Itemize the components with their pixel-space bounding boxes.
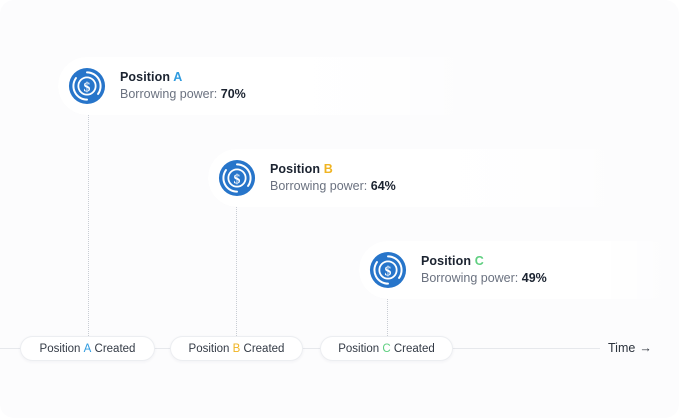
- card-a-title: Position A: [120, 70, 246, 85]
- svg-text:$: $: [385, 263, 392, 278]
- timeline-a-suffix: Created: [95, 343, 136, 355]
- card-b-sub-label: Borrowing power:: [270, 179, 367, 193]
- timeline-event-a[interactable]: Position A Created: [20, 336, 155, 361]
- card-a-value: 70%: [221, 87, 246, 101]
- card-c-subtitle: Borrowing power: 49%: [421, 271, 547, 286]
- position-card-b[interactable]: $ Position B Borrowing power: 64%: [208, 149, 628, 207]
- timeline-axis-label: Time→: [608, 341, 652, 355]
- timeline-b-prefix: Position: [189, 343, 230, 355]
- timeline-event-b[interactable]: Position B Created: [170, 336, 303, 361]
- card-a-sub-label: Borrowing power:: [120, 87, 217, 101]
- card-c-title: Position C: [421, 254, 547, 269]
- timeline-a-prefix: Position: [40, 343, 81, 355]
- card-b-value: 64%: [371, 179, 396, 193]
- timeline-event-c[interactable]: Position C Created: [320, 336, 453, 361]
- card-b-title: Position B: [270, 162, 396, 177]
- card-a-letter: A: [173, 70, 182, 84]
- timeline-c-letter: C: [382, 343, 390, 355]
- arrow-right-icon: →: [639, 341, 652, 355]
- card-c-sub-label: Borrowing power:: [421, 271, 518, 285]
- svg-text:$: $: [234, 171, 241, 186]
- position-card-a[interactable]: $ Position A Borrowing power: 70%: [58, 57, 478, 115]
- usdc-coin-icon: $: [218, 159, 256, 197]
- svg-text:$: $: [84, 79, 91, 94]
- card-b-letter: B: [324, 162, 333, 176]
- usdc-coin-icon: $: [68, 67, 106, 105]
- diagram-canvas: $ Position A Borrowing power: 70%: [0, 0, 679, 418]
- timeline-c-suffix: Created: [394, 343, 435, 355]
- card-c-title-prefix: Position: [421, 254, 471, 268]
- timeline-c-prefix: Position: [338, 343, 379, 355]
- card-b-title-prefix: Position: [270, 162, 320, 176]
- usdc-coin-icon: $: [369, 251, 407, 289]
- timeline-b-suffix: Created: [244, 343, 285, 355]
- position-card-c[interactable]: $ Position C Borrowing power: 49%: [359, 241, 679, 299]
- card-a-title-prefix: Position: [120, 70, 170, 84]
- card-a-subtitle: Borrowing power: 70%: [120, 87, 246, 102]
- card-c-letter: C: [475, 254, 484, 268]
- connector-line-b: [236, 204, 237, 336]
- card-b-subtitle: Borrowing power: 64%: [270, 179, 396, 194]
- card-c-value: 49%: [522, 271, 547, 285]
- connector-line-a: [88, 112, 89, 336]
- connector-line-c: [387, 296, 388, 336]
- timeline-a-letter: A: [84, 343, 92, 355]
- time-label-text: Time: [608, 341, 635, 355]
- timeline-b-letter: B: [233, 343, 241, 355]
